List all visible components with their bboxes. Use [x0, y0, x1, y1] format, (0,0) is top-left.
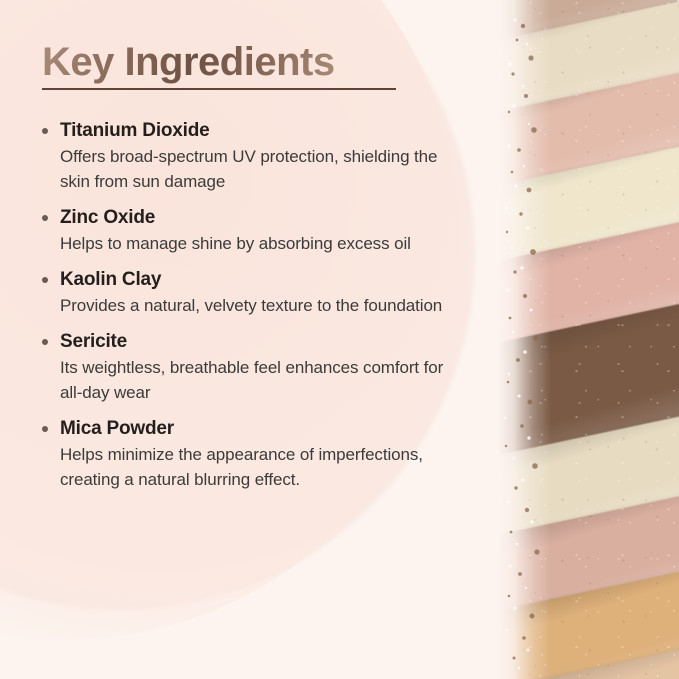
product-ingredients-infographic: Key Ingredients Titanium DioxideOffers b… — [0, 0, 679, 679]
ingredient-name: Titanium Dioxide — [60, 119, 452, 143]
bullet-dot-icon — [42, 128, 48, 134]
page-title: Key Ingredients — [42, 40, 335, 85]
bullet-dot-icon — [42, 277, 48, 283]
list-item: SericiteIts weightless, breathable feel … — [42, 330, 452, 405]
list-item: Mica PowderHelps minimize the appearance… — [42, 417, 452, 492]
text-content-column: Key Ingredients Titanium DioxideOffers b… — [0, 0, 470, 679]
ingredient-list: Titanium DioxideOffers broad-spectrum UV… — [42, 119, 452, 504]
ingredient-name: Sericite — [60, 330, 452, 354]
bullet-dot-icon — [42, 339, 48, 345]
title-underline — [42, 88, 396, 90]
bullet-dot-icon — [42, 426, 48, 432]
list-item: Zinc OxideHelps to manage shine by absor… — [42, 206, 452, 256]
list-item: Kaolin ClayProvides a natural, velvety t… — [42, 268, 452, 318]
ingredient-name: Kaolin Clay — [60, 268, 452, 292]
powder-edge-fade — [479, 0, 551, 679]
ingredient-description: Helps to manage shine by absorbing exces… — [60, 231, 452, 256]
list-item: Titanium DioxideOffers broad-spectrum UV… — [42, 119, 452, 194]
powder-swatch-image — [479, 0, 679, 679]
ingredient-description: Its weightless, breathable feel enhances… — [60, 355, 452, 405]
bullet-dot-icon — [42, 215, 48, 221]
ingredient-description: Offers broad-spectrum UV protection, shi… — [60, 144, 452, 194]
ingredient-description: Provides a natural, velvety texture to t… — [60, 293, 452, 318]
ingredient-description: Helps minimize the appearance of imperfe… — [60, 442, 452, 492]
ingredient-name: Zinc Oxide — [60, 206, 452, 230]
ingredient-name: Mica Powder — [60, 417, 452, 441]
